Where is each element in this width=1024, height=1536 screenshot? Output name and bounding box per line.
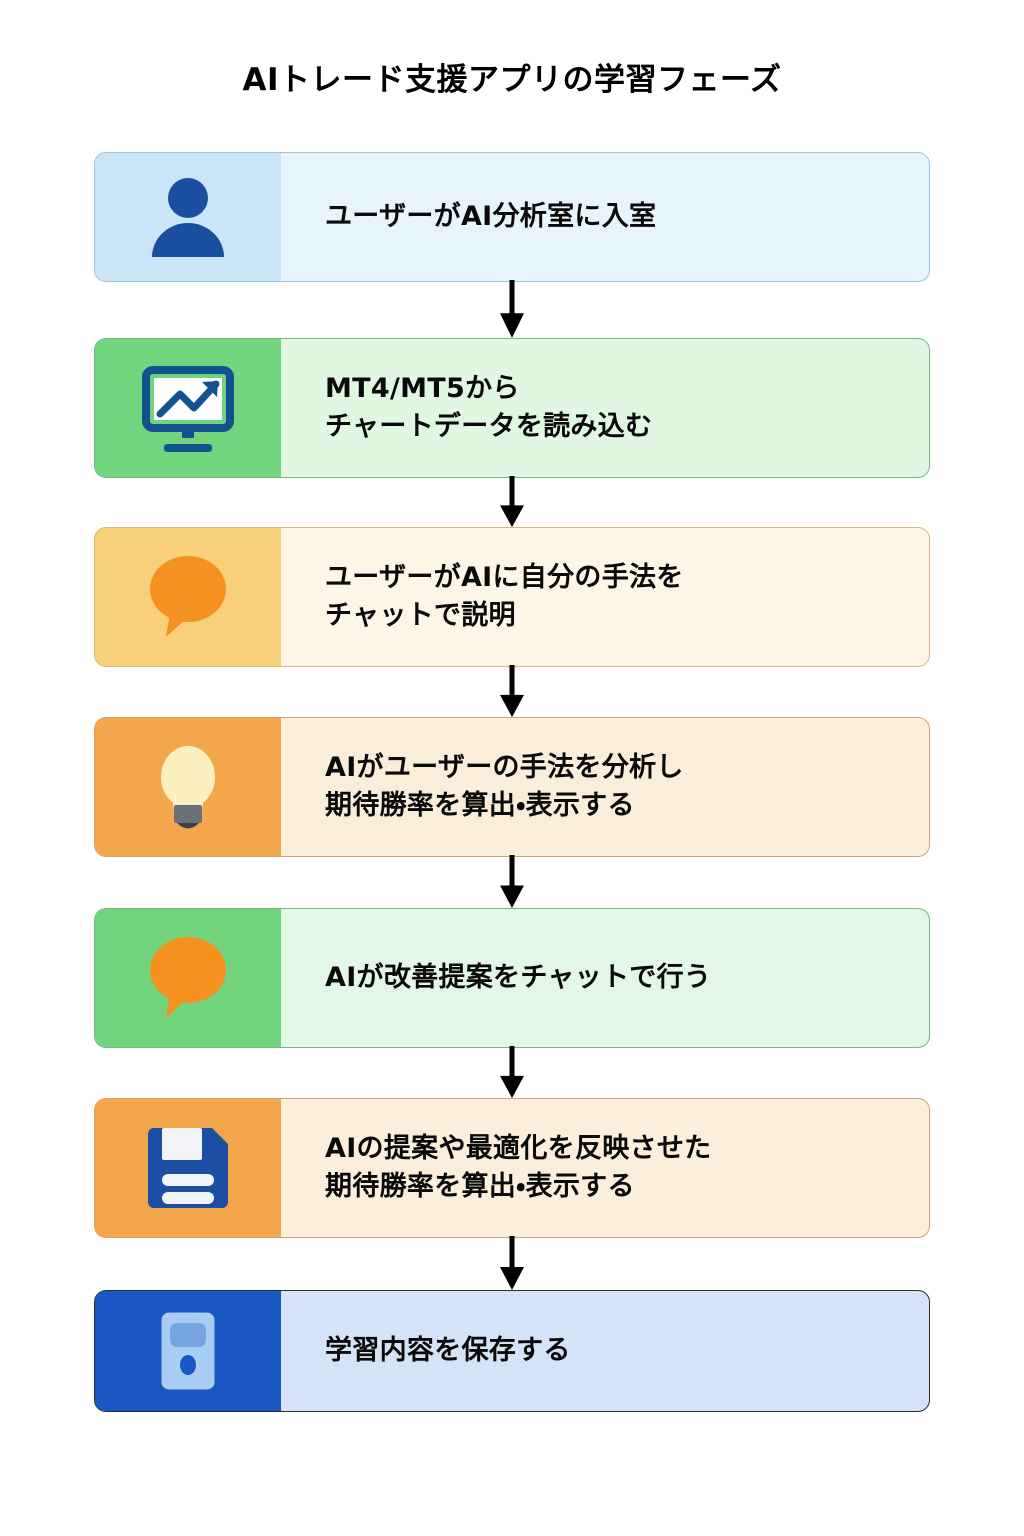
step-4-label: AIがユーザーの手法を分析し 期待勝率を算出・表示する [325,749,684,826]
speech-bubble-icon [136,545,240,649]
step-4-icon-cell [95,718,281,856]
person-icon [136,165,240,269]
step-2[interactable]: MT4/MT5から チャートデータを読み込む [94,338,930,478]
step-6-label: AIの提案や最適化を反映させた 期待勝率を算出・表示する [325,1130,711,1207]
lightbulb-icon [136,735,240,839]
step-7-label: 学習内容を保存する [325,1332,571,1370]
step-7[interactable]: 学習内容を保存する [94,1290,930,1412]
step-2-icon-cell [95,339,281,477]
arrow-down-icon [497,1046,527,1100]
step-2-text-cell: MT4/MT5から チャートデータを読み込む [281,339,929,477]
step-3[interactable]: ユーザーがAIに自分の手法を チャットで説明 [94,527,930,667]
step-7-icon-cell [95,1291,281,1411]
step-2-label: MT4/MT5から チャートデータを読み込む [325,370,652,447]
step-5-text-cell: AIが改善提案をチャットで行う [281,909,929,1047]
arrow-down-icon [497,665,527,719]
step-5[interactable]: AIが改善提案をチャットで行う [94,908,930,1048]
step-3-icon-cell [95,528,281,666]
step-6-icon-cell [95,1099,281,1237]
page-title: AIトレード支援アプリの学習フェーズ [0,62,1024,99]
floppy-disk-icon [136,1116,240,1220]
step-4-text-cell: AIがユーザーの手法を分析し 期待勝率を算出・表示する [281,718,929,856]
speech-bubble-icon [136,926,240,1030]
step-1-text-cell: ユーザーがAI分析室に入室 [281,153,929,281]
arrow-down-icon [497,1236,527,1292]
step-7-text-cell: 学習内容を保存する [281,1291,929,1411]
step-1-label: ユーザーがAI分析室に入室 [325,198,656,236]
save-device-icon [136,1299,240,1403]
step-1-icon-cell [95,153,281,281]
step-3-label: ユーザーがAIに自分の手法を チャットで説明 [325,559,684,636]
step-5-label: AIが改善提案をチャットで行う [325,959,711,997]
step-1[interactable]: ユーザーがAI分析室に入室 [94,152,930,282]
arrow-down-icon [497,280,527,340]
arrow-down-icon [497,855,527,910]
step-6-text-cell: AIの提案や最適化を反映させた 期待勝率を算出・表示する [281,1099,929,1237]
step-4[interactable]: AIがユーザーの手法を分析し 期待勝率を算出・表示する [94,717,930,857]
arrow-down-icon [497,476,527,529]
step-6[interactable]: AIの提案や最適化を反映させた 期待勝率を算出・表示する [94,1098,930,1238]
monitor-chart-icon [136,356,240,460]
step-5-icon-cell [95,909,281,1047]
step-3-text-cell: ユーザーがAIに自分の手法を チャットで説明 [281,528,929,666]
flowchart-diagram: AIトレード支援アプリの学習フェーズ ユーザーがAI分析室に入室MT4/MT5か… [0,0,1024,1536]
